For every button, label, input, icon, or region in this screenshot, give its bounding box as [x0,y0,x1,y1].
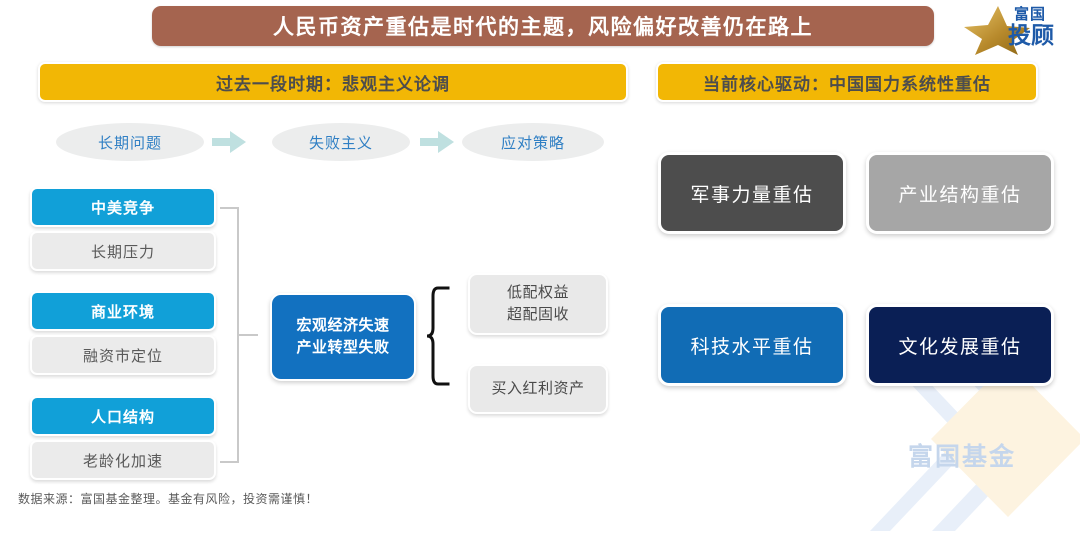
issue-box-4[interactable]: 融资市定位 [30,335,216,375]
slide-title-bar: 人民币资产重估是时代的主题，风险偏好改善仍在路上 [152,6,934,46]
driver-box-technology[interactable]: 科技水平重估 [658,304,846,386]
logo-line-2: 投顾 [1008,24,1076,47]
flow-arrow-1-icon [212,131,246,153]
section-header-right: 当前核心驱动：中国国力系统性重估 [656,62,1038,102]
driver-box-military[interactable]: 军事力量重估 [658,152,846,234]
driver-box-industry-label: 产业结构重估 [898,180,1021,207]
left-bracket-connector [218,206,258,464]
issue-box-2-label: 长期压力 [91,241,155,262]
macro-failure-box[interactable]: 宏观经济失速 产业转型失败 [270,293,416,381]
macro-failure-line-1: 宏观经济失速 [296,315,389,337]
strategy-box-1-line-2: 超配固收 [507,304,569,326]
macro-failure-line-2: 产业转型失败 [296,337,389,359]
logo-line-1: 富国 [1014,7,1076,22]
issue-box-1[interactable]: 中美竞争 [30,187,216,227]
section-header-left-label: 过去一段时期：悲观主义论调 [216,70,450,95]
issue-box-3[interactable]: 商业环境 [30,291,216,331]
flow-arrow-2-icon [420,131,454,153]
slide-title: 人民币资产重估是时代的主题，风险偏好改善仍在路上 [273,11,813,41]
driver-box-military-label: 军事力量重估 [690,180,813,207]
strategy-box-2-line-1: 买入红利资产 [491,378,584,400]
driver-box-culture[interactable]: 文化发展重估 [866,304,1054,386]
flow-oval-3: 应对策略 [462,123,604,161]
brand-logo: 富国 投顾 [962,4,1074,56]
flow-oval-1: 长期问题 [56,123,204,161]
strategy-brace-icon [424,286,454,386]
flow-oval-2: 失败主义 [272,123,410,161]
issue-box-2[interactable]: 长期压力 [30,231,216,271]
issue-box-4-label: 融资市定位 [83,345,163,366]
issue-box-6[interactable]: 老龄化加速 [30,440,216,480]
section-header-right-label: 当前核心驱动：中国国力系统性重估 [703,70,991,95]
issue-box-5[interactable]: 人口结构 [30,396,216,436]
watermark-text: 富国基金 [908,437,1016,473]
strategy-box-2[interactable]: 买入红利资产 [468,364,608,414]
issue-box-1-label: 中美竞争 [91,197,155,218]
issue-box-5-label: 人口结构 [91,406,155,427]
driver-box-technology-label: 科技水平重估 [690,332,813,359]
flow-oval-2-label: 失败主义 [309,132,373,153]
footer-disclaimer: 数据来源：富国基金整理。基金有风险，投资需谨慎！ [18,490,318,507]
logo-wordmark: 富国 投顾 [1008,7,1076,53]
issue-box-3-label: 商业环境 [91,301,155,322]
strategy-box-1-line-1: 低配权益 [507,282,569,304]
strategy-box-1[interactable]: 低配权益 超配固收 [468,273,608,335]
section-header-left: 过去一段时期：悲观主义论调 [38,62,628,102]
flow-oval-3-label: 应对策略 [501,132,565,153]
slide-canvas: 富国基金 富国 投顾 人民币资产重估是时代的主题，风险偏好改善仍在路上 过去一段… [0,0,1080,513]
driver-box-culture-label: 文化发展重估 [898,332,1021,359]
issue-box-6-label: 老龄化加速 [83,450,163,471]
flow-oval-1-label: 长期问题 [98,132,162,153]
driver-box-industry[interactable]: 产业结构重估 [866,152,1054,234]
